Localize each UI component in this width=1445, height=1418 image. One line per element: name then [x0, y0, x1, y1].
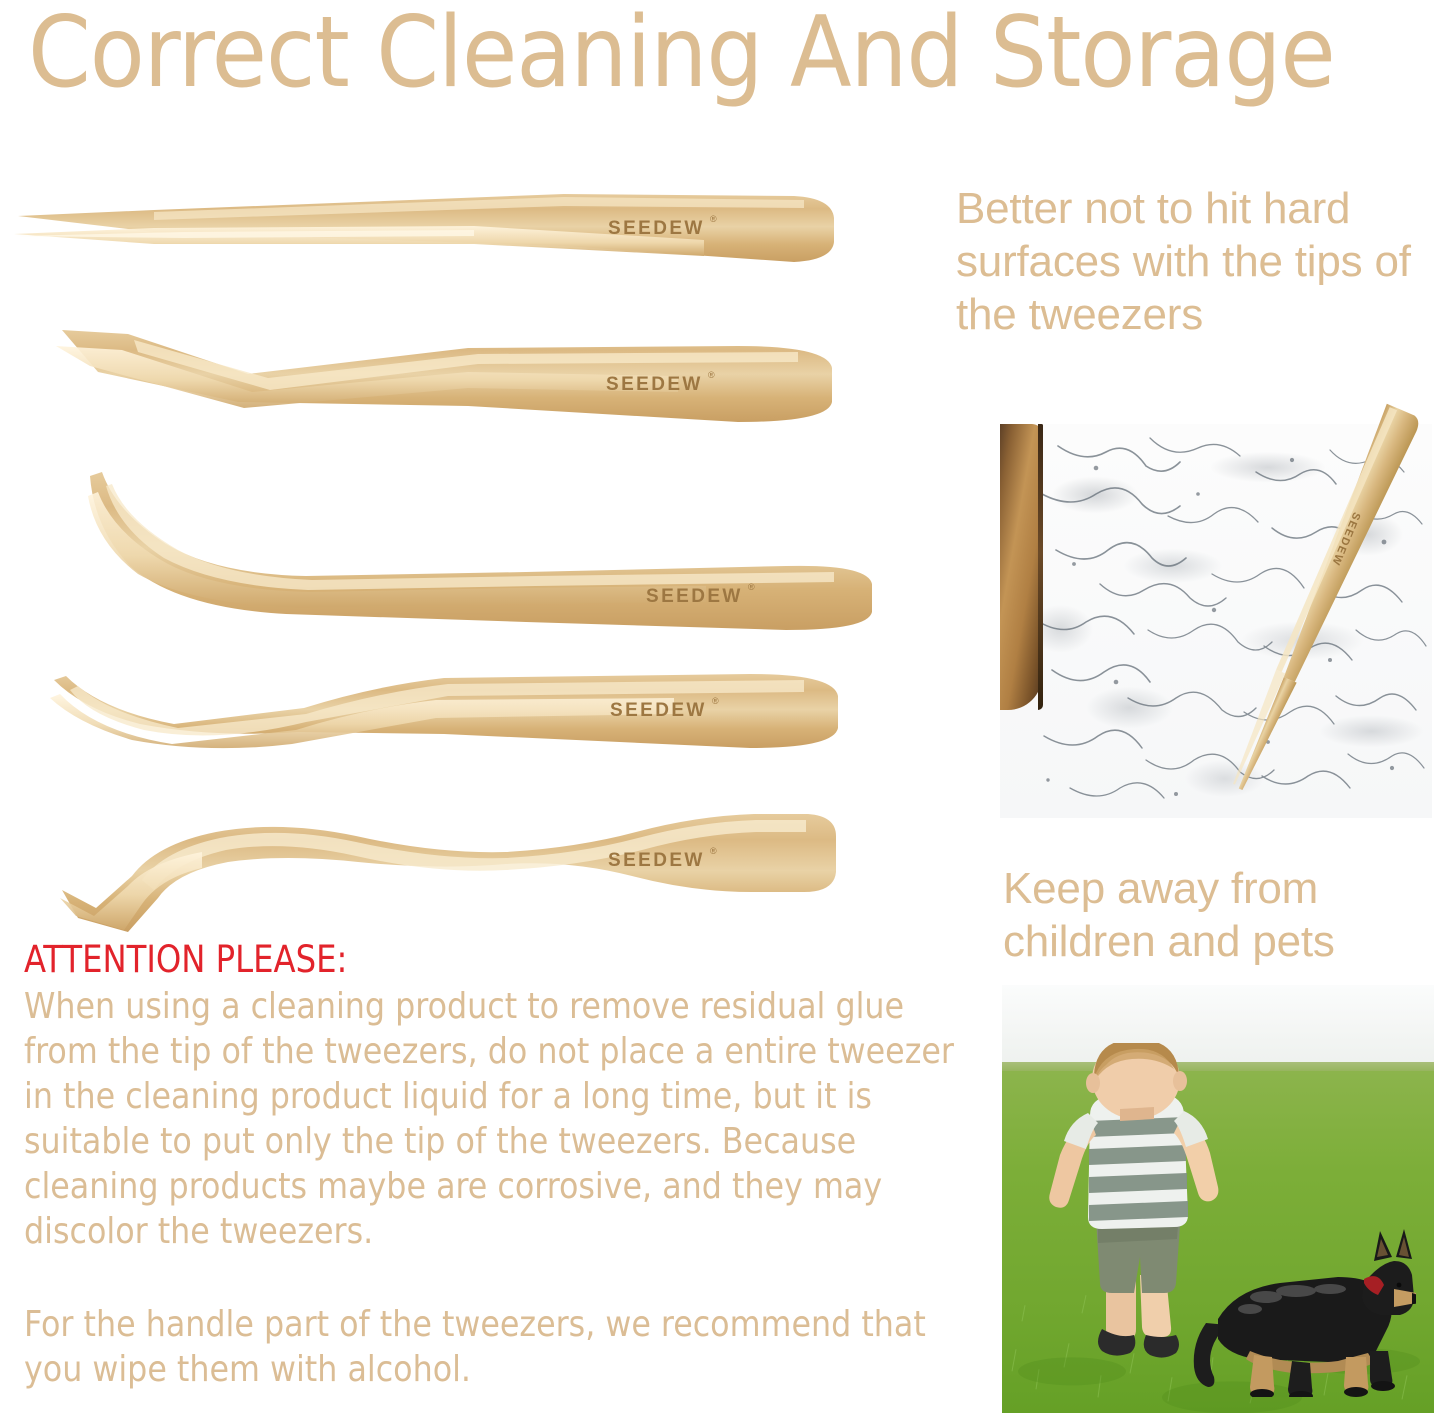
- attention-heading: ATTENTION PLEASE:: [24, 940, 946, 980]
- tip-children-pets-text: Keep away from children and pets: [1003, 862, 1443, 968]
- infographic-page: Correct Cleaning And Storage: [0, 0, 1445, 1418]
- brand-label: SEEDEW: [646, 586, 743, 607]
- tweezer-on-marble: SEEDEW: [1000, 350, 1432, 820]
- photo-child-and-dog: [1002, 985, 1434, 1413]
- tweezer-straight-pointed: SEEDEW ®: [4, 170, 884, 330]
- brand-registered-symbol: ®: [712, 696, 719, 706]
- brand-label: SEEDEW: [610, 700, 707, 721]
- brand-registered-symbol: ®: [708, 370, 715, 380]
- tweezer-boot-s-curve: SEEDEW ®: [36, 780, 916, 940]
- brand-label: SEEDEW: [608, 850, 705, 871]
- dog-figure: [1188, 1227, 1416, 1397]
- tip-hard-surfaces-text: Better not to hit hard surfaces with the…: [956, 182, 1445, 341]
- tweezer-upper-arm: [90, 472, 872, 630]
- attention-paragraph-1: When using a cleaning product to remove …: [24, 984, 955, 1254]
- brand-registered-symbol: ®: [710, 214, 717, 224]
- tweezer-angled-45: SEEDEW ®: [38, 310, 918, 470]
- brand-registered-symbol: ®: [748, 582, 755, 592]
- attention-paragraph-2: For the handle part of the tweezers, we …: [24, 1302, 955, 1392]
- brand-registered-symbol: ®: [710, 846, 717, 856]
- tweezer-curved-j: SEEDEW ®: [86, 462, 966, 622]
- brand-label: SEEDEW: [608, 218, 705, 239]
- attention-block: ATTENTION PLEASE: When using a cleaning …: [24, 940, 974, 1392]
- tweezer-gallery: SEEDEW ® SEEDEW ® SEEDEW ®: [0, 170, 900, 930]
- brand-label: SEEDEW: [606, 374, 703, 395]
- page-title: Correct Cleaning And Storage: [28, 4, 1445, 104]
